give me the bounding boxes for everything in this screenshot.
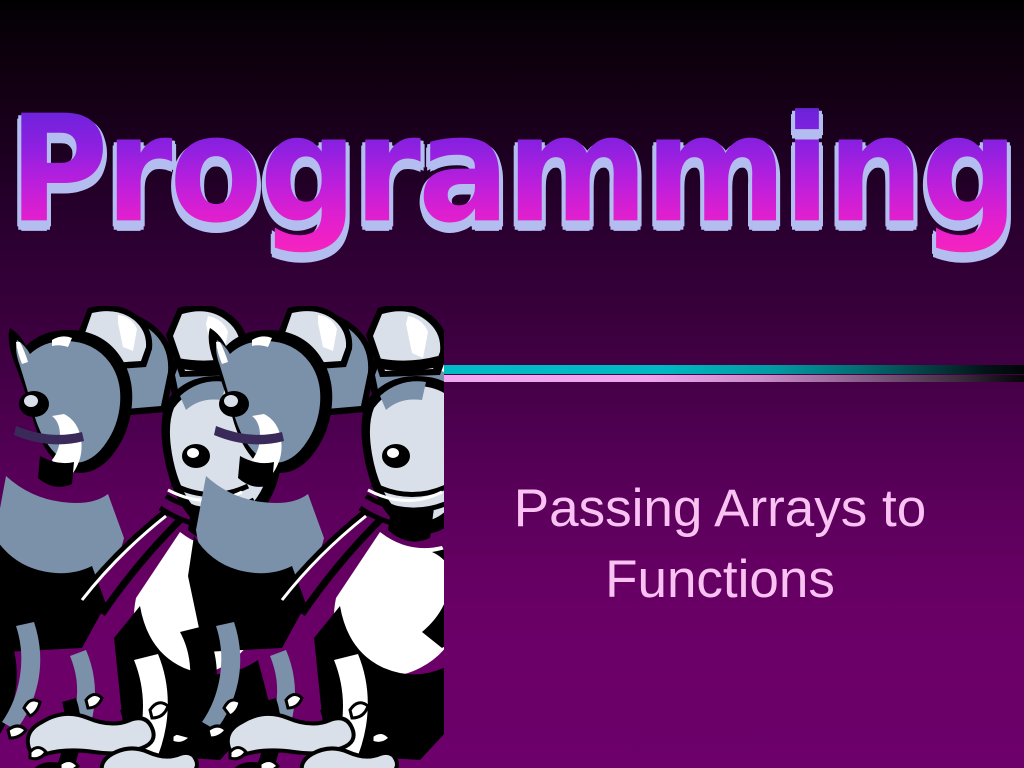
slide-subtitle: Passing Arrays to Functions [440,473,1000,615]
slide-title-outline: Programming [0,92,1024,260]
racing-horses-illustration [0,306,444,768]
slide-title-text: Programming [0,86,1024,254]
accent-stripe-pink [398,375,1024,382]
presentation-slide: Programming Programming Passing Arrays t… [0,0,1024,768]
accent-stripe-cyan [398,365,1024,374]
